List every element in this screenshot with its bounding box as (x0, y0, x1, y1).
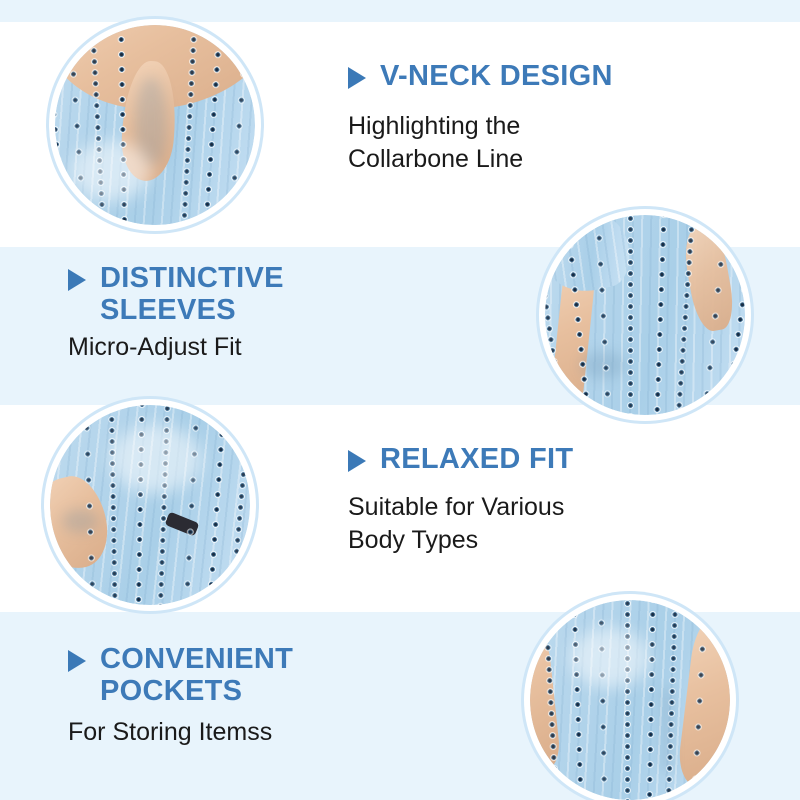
feature-title: CONVENIENT POCKETS (100, 643, 293, 708)
photo-fit-image (50, 405, 250, 605)
feature-heading-row: V-NECK DESIGN (348, 60, 613, 92)
photo-pocket (530, 600, 730, 800)
triangle-right-icon (348, 67, 366, 89)
photo-fit (50, 405, 250, 605)
feature-heading-row: DISTINCTIVE SLEEVES (68, 262, 284, 327)
infographic-canvas: V-NECK DESIGN Highlighting the Collarbon… (0, 0, 800, 800)
feature-title: V-NECK DESIGN (380, 60, 613, 92)
feature-distinctive-sleeves: DISTINCTIVE SLEEVES Micro-Adjust Fit (68, 262, 284, 364)
triangle-right-icon (348, 450, 366, 472)
feature-title: RELAXED FIT (380, 443, 573, 475)
feature-v-neck-design: V-NECK DESIGN Highlighting the Collarbon… (348, 60, 613, 176)
triangle-right-icon (68, 650, 86, 672)
photo-sleeve-image (545, 215, 745, 415)
feature-subtitle: Highlighting the Collarbone Line (348, 110, 613, 176)
feature-subtitle: For Storing Itemss (68, 716, 293, 749)
feature-subtitle: Micro-Adjust Fit (68, 331, 284, 364)
feature-subtitle: Suitable for Various Body Types (348, 491, 573, 557)
photo-sleeve (545, 215, 745, 415)
band-top-blue (0, 0, 800, 22)
photo-v-neck-image (55, 25, 255, 225)
feature-heading-row: CONVENIENT POCKETS (68, 643, 293, 708)
feature-relaxed-fit: RELAXED FIT Suitable for Various Body Ty… (348, 443, 573, 557)
feature-heading-row: RELAXED FIT (348, 443, 573, 475)
triangle-right-icon (68, 269, 86, 291)
photo-v-neck (55, 25, 255, 225)
feature-title: DISTINCTIVE SLEEVES (100, 262, 284, 327)
photo-pocket-image (530, 600, 730, 800)
feature-convenient-pockets: CONVENIENT POCKETS For Storing Itemss (68, 643, 293, 749)
